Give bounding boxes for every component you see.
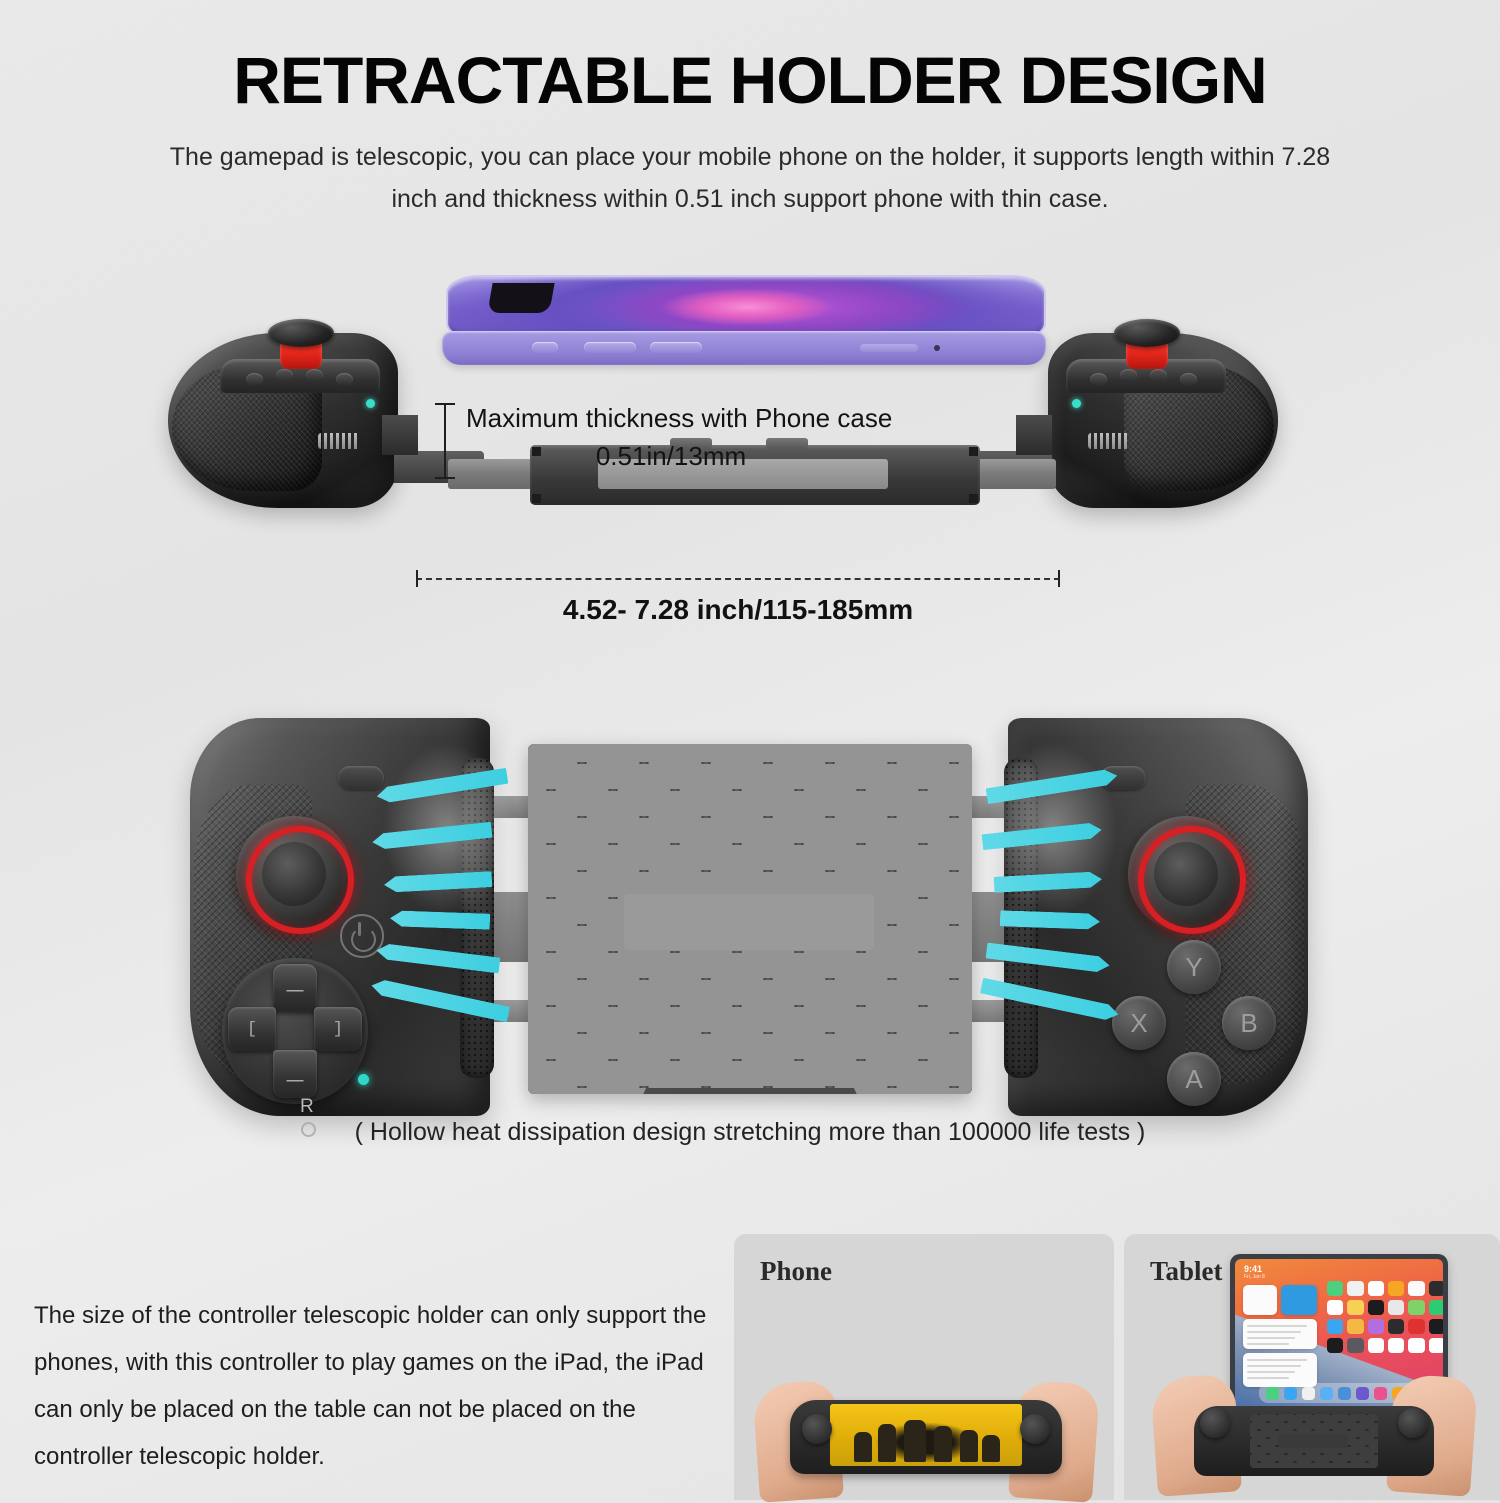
app-icon xyxy=(1347,1319,1363,1334)
airflow-arrows-right xyxy=(980,770,1130,1020)
airflow-arrows-left xyxy=(370,770,520,1020)
honeycomb-center-bar xyxy=(624,894,874,950)
ipad-widget-music xyxy=(1243,1353,1317,1387)
dpad-down-button[interactable]: ⎽ xyxy=(273,1050,317,1098)
phone-volume-down-button xyxy=(650,342,702,353)
phone-notch xyxy=(487,283,554,313)
page-title: RETRACTABLE HOLDER DESIGN xyxy=(0,42,1500,118)
button-b[interactable]: B xyxy=(1222,996,1276,1050)
width-label: 4.52- 7.28 inch/115-185mm xyxy=(416,594,1060,626)
ipad-widget-news xyxy=(1243,1319,1317,1349)
left-stick xyxy=(802,1414,832,1444)
button-y[interactable]: Y xyxy=(1167,940,1221,994)
dimension-endcap-left xyxy=(416,570,418,587)
app-icon xyxy=(1429,1338,1443,1353)
thickness-measure-bar xyxy=(444,403,446,479)
brand-logo xyxy=(318,433,360,449)
thickness-annotation: Maximum thickness with Phone case 0.51in… xyxy=(466,399,986,475)
right-analog-stick[interactable] xyxy=(1128,816,1244,932)
phone-microphone xyxy=(934,345,940,351)
honeycomb-foot xyxy=(632,1088,868,1094)
widget-text-line xyxy=(1247,1343,1289,1345)
app-icon xyxy=(1327,1319,1343,1334)
dimension-line xyxy=(416,578,1060,580)
app-icon xyxy=(1368,1300,1384,1315)
brand-logo xyxy=(1088,433,1130,449)
dimension-endcap-right xyxy=(1058,570,1060,587)
width-dimension: 4.52- 7.28 inch/115-185mm xyxy=(416,570,1060,610)
top-view-diagram: ⎼ [ ] ⎽ R Y X B A xyxy=(0,700,1500,1170)
rail-corner xyxy=(969,494,978,503)
app-icon xyxy=(1408,1281,1424,1296)
thumbstick-cap xyxy=(268,319,334,347)
phone-panel-label: Phone xyxy=(760,1256,832,1287)
widget-text-line xyxy=(1247,1331,1301,1333)
status-led xyxy=(358,1074,369,1085)
thumbstick-cap xyxy=(1114,319,1180,347)
app-icon xyxy=(1429,1300,1443,1315)
app-icon xyxy=(1388,1338,1404,1353)
connector-tab-left xyxy=(382,415,418,455)
phone-mute-switch xyxy=(532,342,558,353)
honeycomb-center-bar xyxy=(1278,1434,1348,1448)
status-led xyxy=(366,399,375,408)
app-icon xyxy=(1347,1281,1363,1296)
ipad-clock: 9:41 xyxy=(1244,1264,1262,1274)
app-icon xyxy=(1368,1281,1384,1296)
phone-illustration xyxy=(432,275,1042,365)
controller-right-thumbstick xyxy=(1114,319,1178,373)
tablet-usage-illustration xyxy=(1154,1390,1474,1494)
ipad-widget-calendar xyxy=(1243,1285,1277,1315)
widget-text-line xyxy=(1247,1371,1295,1373)
status-led xyxy=(1072,399,1081,408)
right-stick xyxy=(1398,1408,1428,1438)
app-icon xyxy=(1408,1300,1424,1315)
controller-left-thumbstick xyxy=(268,319,332,373)
game-screen xyxy=(830,1404,1022,1466)
app-icon xyxy=(1347,1300,1363,1315)
dpad-right-button[interactable]: ] xyxy=(314,1007,362,1051)
button-a[interactable]: A xyxy=(1167,1052,1221,1106)
phone-body xyxy=(442,331,1046,365)
widget-text-line xyxy=(1247,1365,1301,1367)
page-subtitle: The gamepad is telescopic, you can place… xyxy=(150,136,1350,220)
app-icon xyxy=(1368,1338,1384,1353)
ipad-widget-weather xyxy=(1281,1285,1317,1315)
left-stick xyxy=(1200,1408,1230,1438)
heat-dissipation-caption: ( Hollow heat dissipation design stretch… xyxy=(0,1118,1500,1147)
thickness-label-line1: Maximum thickness with Phone case xyxy=(466,403,892,433)
thickness-label-line2: 0.51in/13mm xyxy=(466,437,876,475)
phone-speaker-grille xyxy=(860,344,918,352)
app-icon xyxy=(1388,1300,1404,1315)
dpad[interactable]: ⎼ [ ] ⎽ xyxy=(222,958,368,1104)
app-icon xyxy=(1347,1338,1363,1353)
tablet-panel-label: Tablet xyxy=(1150,1256,1223,1287)
reset-label: R xyxy=(300,1096,314,1118)
side-view-diagram: Maximum thickness with Phone case 0.51in… xyxy=(0,255,1500,655)
app-icon xyxy=(1429,1281,1443,1296)
app-icon xyxy=(1388,1319,1404,1334)
dpad-up-button[interactable]: ⎼ xyxy=(273,964,317,1012)
widget-text-line xyxy=(1247,1359,1307,1361)
tablet-usage-panel: Tablet 9:41 Fri, Jan 8 xyxy=(1124,1234,1500,1500)
app-icon xyxy=(1327,1300,1343,1315)
app-icon xyxy=(1408,1338,1424,1353)
face-button-cluster: Y X B A xyxy=(1108,940,1280,1112)
phone-usage-panel: Phone xyxy=(734,1234,1114,1500)
app-icon xyxy=(1429,1319,1443,1334)
left-analog-stick[interactable] xyxy=(236,816,352,932)
widget-text-line xyxy=(1247,1337,1295,1339)
app-icon xyxy=(1408,1319,1424,1334)
ipad-app-grid xyxy=(1327,1281,1443,1385)
app-icon xyxy=(1327,1281,1343,1296)
widget-text-line xyxy=(1247,1377,1289,1379)
right-stick xyxy=(1020,1414,1050,1444)
phone-volume-up-button xyxy=(584,342,636,353)
app-icon xyxy=(1368,1319,1384,1334)
phone-usage-illustration xyxy=(756,1368,1096,1500)
ipad-date: Fri, Jan 8 xyxy=(1244,1274,1265,1280)
app-icon xyxy=(1388,1281,1404,1296)
controller-body xyxy=(1194,1406,1434,1476)
footer-note: The size of the controller telescopic ho… xyxy=(34,1292,714,1480)
widget-text-line xyxy=(1247,1325,1307,1327)
game-characters xyxy=(854,1418,1000,1462)
honeycomb-heat-dissipation-panel xyxy=(528,744,972,1094)
rail-corner xyxy=(532,494,541,503)
app-icon xyxy=(1327,1338,1343,1353)
dpad-left-button[interactable]: [ xyxy=(228,1007,276,1051)
